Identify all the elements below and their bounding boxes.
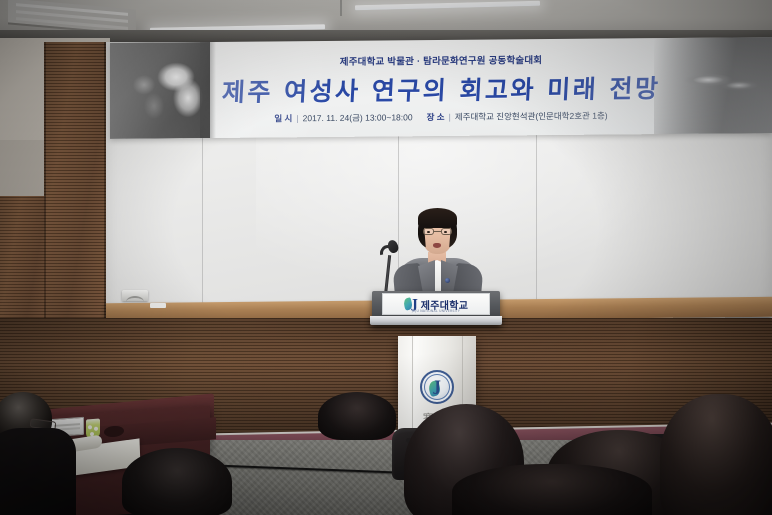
lecture-hall-photo: 제주대학교 박물관 · 탐라문화연구원 공동학술대회 제주 여성사 연구의 회고… xyxy=(0,0,772,515)
lectern-shelf xyxy=(370,316,502,325)
banner-subtitle: 제주대학교 박물관 · 탐라문화연구원 공동학술대회 xyxy=(340,52,542,68)
audience-member-body xyxy=(0,428,76,515)
speaker-eye-right xyxy=(444,231,447,233)
speaker-lapel-pin xyxy=(445,278,450,283)
conference-banner: 제주대학교 박물관 · 탐라문화연구원 공동학술대회 제주 여성사 연구의 회고… xyxy=(110,37,772,139)
whiteboard-eraser xyxy=(122,290,148,301)
banner-date-value: 2017. 11. 24(금) 13:00~18:00 xyxy=(303,111,413,124)
audience-member-head xyxy=(318,392,396,440)
whiteboard-marker xyxy=(150,303,166,308)
audience-member-head xyxy=(122,448,232,515)
banner-date-group: 일 시 | 2017. 11. 24(금) 13:00~18:00 xyxy=(274,111,412,124)
ceiling-seam xyxy=(340,0,342,16)
banner-meta-line: 일 시 | 2017. 11. 24(금) 13:00~18:00 장 소 | … xyxy=(274,110,607,125)
banner-title: 제주 여성사 연구의 회고와 미래 전망 xyxy=(221,69,661,109)
emblem-letter: J xyxy=(434,379,440,395)
speaker-hair-top xyxy=(418,208,457,228)
banner-place-label: 장 소 xyxy=(427,111,445,123)
banner-place-group: 장 소 | 제주대학교 진앙현석관(인문대학2호관 1층) xyxy=(427,110,608,124)
audience-member-head xyxy=(660,394,772,515)
speaker-mouth xyxy=(433,243,441,248)
speaker-figure xyxy=(398,210,478,300)
banner-date-label: 일 시 xyxy=(274,112,292,124)
banner-date-separator: | xyxy=(296,113,298,123)
banner-photo-left-icon xyxy=(110,42,210,139)
lectern-nameplate: J 제주대학교 JEJU NATIONAL UNIVERSITY xyxy=(382,293,490,315)
university-emblem-icon: J xyxy=(420,370,454,404)
banner-place-value: 제주대학교 진앙현석관(인문대학2호관 1층) xyxy=(455,110,608,123)
banner-place-separator: | xyxy=(449,112,451,122)
speaker-eye-left xyxy=(427,231,430,233)
lectern-nameplate-subtext: JEJU NATIONAL UNIVERSITY xyxy=(383,309,489,313)
audience-member-head xyxy=(452,464,652,515)
